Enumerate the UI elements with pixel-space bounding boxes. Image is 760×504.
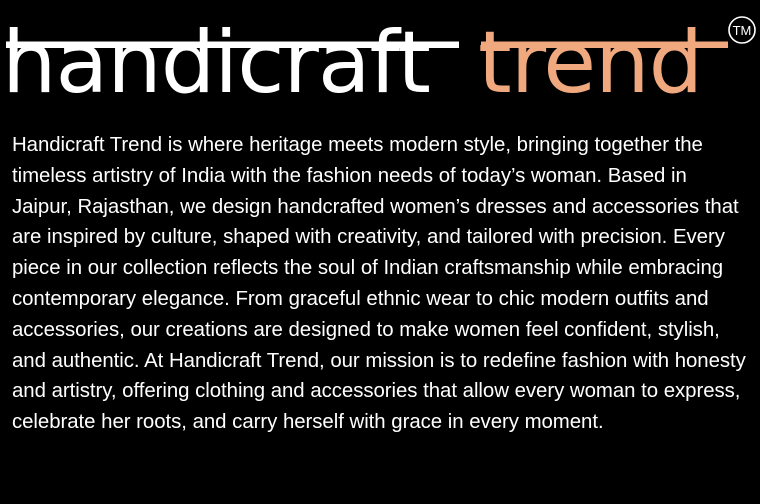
about-section: Handicraft Trend is where heritage meets…: [0, 130, 760, 438]
logo-word-handicraft: handicraft: [2, 13, 430, 113]
brand-logo: handicraft trend TM: [0, 0, 760, 118]
trademark-label: TM: [733, 23, 752, 38]
logo-word-trend: trend: [478, 13, 702, 113]
trademark-icon: TM: [729, 17, 755, 43]
about-paragraph: Handicraft Trend is where heritage meets…: [12, 130, 746, 438]
brand-logo-artwork: handicraft trend TM: [0, 0, 760, 118]
